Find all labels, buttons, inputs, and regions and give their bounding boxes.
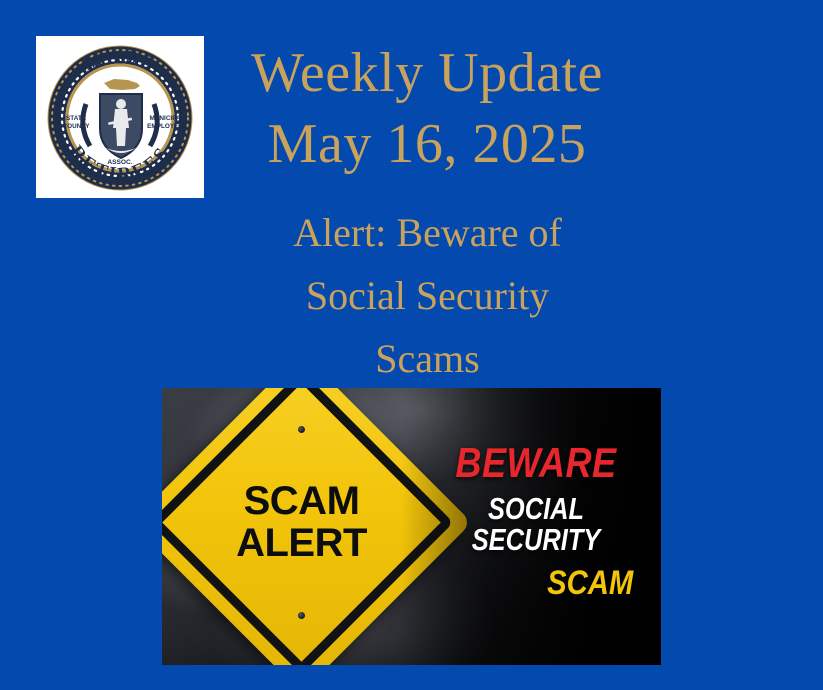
title-line-1: Weekly Update [212,38,642,109]
subtitle-line-3: Scams [200,328,655,391]
banner-text: BEWARE SOCIAL SECURITY SCAM [417,442,655,600]
scam-alert-photo: SCAM ALERT BEWARE SOCIAL SECURITY SCAM [162,388,661,665]
subtitle-line-1: Alert: Beware of [200,202,655,265]
svg-text:COUNTY: COUNTY [63,123,91,130]
subtitle-line-2: Social Security [200,265,655,328]
page-title: Weekly Update May 16, 2025 [212,38,642,180]
svg-text:EMPLOYEES: EMPLOYEES [147,123,188,130]
banner-beware: BEWARE [434,442,639,484]
banner-social-security: SOCIAL SECURITY [438,493,633,555]
seal-icon: MASS RETIREES STATE COUNTY MUNICIPAL EMP… [36,36,204,198]
svg-text:MUNICIPAL: MUNICIPAL [149,115,184,122]
svg-text:ASSOC.: ASSOC. [107,159,132,166]
banner-scam: SCAM [434,566,639,600]
svg-text:STATE: STATE [66,115,87,122]
subtitle: Alert: Beware of Social Security Scams [200,202,655,390]
title-line-2: May 16, 2025 [212,109,642,180]
mass-retirees-logo: MASS RETIREES STATE COUNTY MUNICIPAL EMP… [36,36,204,198]
